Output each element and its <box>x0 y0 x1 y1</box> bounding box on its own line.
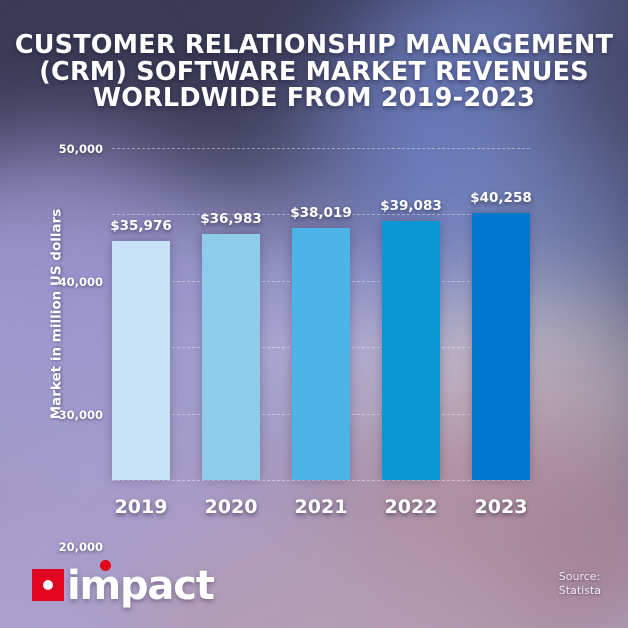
bar-value-label: $38,019 <box>290 205 352 221</box>
source-attribution: Source: Statista <box>559 570 601 598</box>
x-axis-tick-label: 2022 <box>385 496 438 518</box>
bar[interactable] <box>112 241 170 480</box>
chart-title-line-2: (CRM) SOFTWARE MARKET REVENUES <box>14 59 614 86</box>
y-axis-tick-label: 20,000 <box>59 540 103 554</box>
x-axis-tick-label: 2021 <box>295 496 348 518</box>
infographic-poster: CUSTOMER RELATIONSHIP MANAGEMENT (CRM) S… <box>0 0 628 628</box>
y-axis-tick-label: 40,000 <box>59 275 103 289</box>
bar[interactable] <box>202 234 260 480</box>
bar-group[interactable]: $40,2582023 <box>472 148 530 480</box>
chart-title-line-3: WORLDWIDE FROM 2019-2023 <box>14 85 614 112</box>
bar[interactable] <box>292 228 350 480</box>
y-axis-tick-label: 30,000 <box>59 408 103 422</box>
chart-title: CUSTOMER RELATIONSHIP MANAGEMENT (CRM) S… <box>0 32 628 112</box>
y-axis-tick-label: 50,000 <box>59 142 103 156</box>
bar[interactable] <box>382 221 440 481</box>
impact-logo-mark-icon <box>32 569 64 601</box>
bar-group[interactable]: $38,0192021 <box>292 148 350 480</box>
bars-group: $35,9762019$36,9832020$38,0192021$39,083… <box>112 148 530 480</box>
impact-logo: impact <box>32 560 214 602</box>
y-axis-title-label: Market in million US dollars <box>48 209 64 420</box>
impact-logo-wordmark-wrap: impact <box>67 570 214 602</box>
source-name: Statista <box>559 584 601 598</box>
bar-group[interactable]: $35,9762019 <box>112 148 170 480</box>
y-axis-title: Market in million US dollars <box>46 148 66 480</box>
impact-logo-text: impact <box>67 570 214 602</box>
bar-value-label: $40,258 <box>470 190 532 206</box>
bar-group[interactable]: $36,9832020 <box>202 148 260 480</box>
chart-title-line-1: CUSTOMER RELATIONSHIP MANAGEMENT <box>14 32 614 59</box>
x-axis-tick-label: 2019 <box>115 496 168 518</box>
plot-area: 010,00020,00030,00040,00050,000 $35,9762… <box>112 148 530 480</box>
bar[interactable] <box>472 213 530 480</box>
bar-value-label: $39,083 <box>380 198 442 214</box>
gridline: 0 <box>112 480 530 481</box>
x-axis-tick-label: 2020 <box>205 496 258 518</box>
source-label: Source: <box>559 570 601 584</box>
bar-value-label: $36,983 <box>200 211 262 227</box>
bar-value-label: $35,976 <box>110 218 172 234</box>
bar-group[interactable]: $39,0832022 <box>382 148 440 480</box>
impact-logo-dot-icon <box>100 560 111 571</box>
x-axis-tick-label: 2023 <box>475 496 528 518</box>
